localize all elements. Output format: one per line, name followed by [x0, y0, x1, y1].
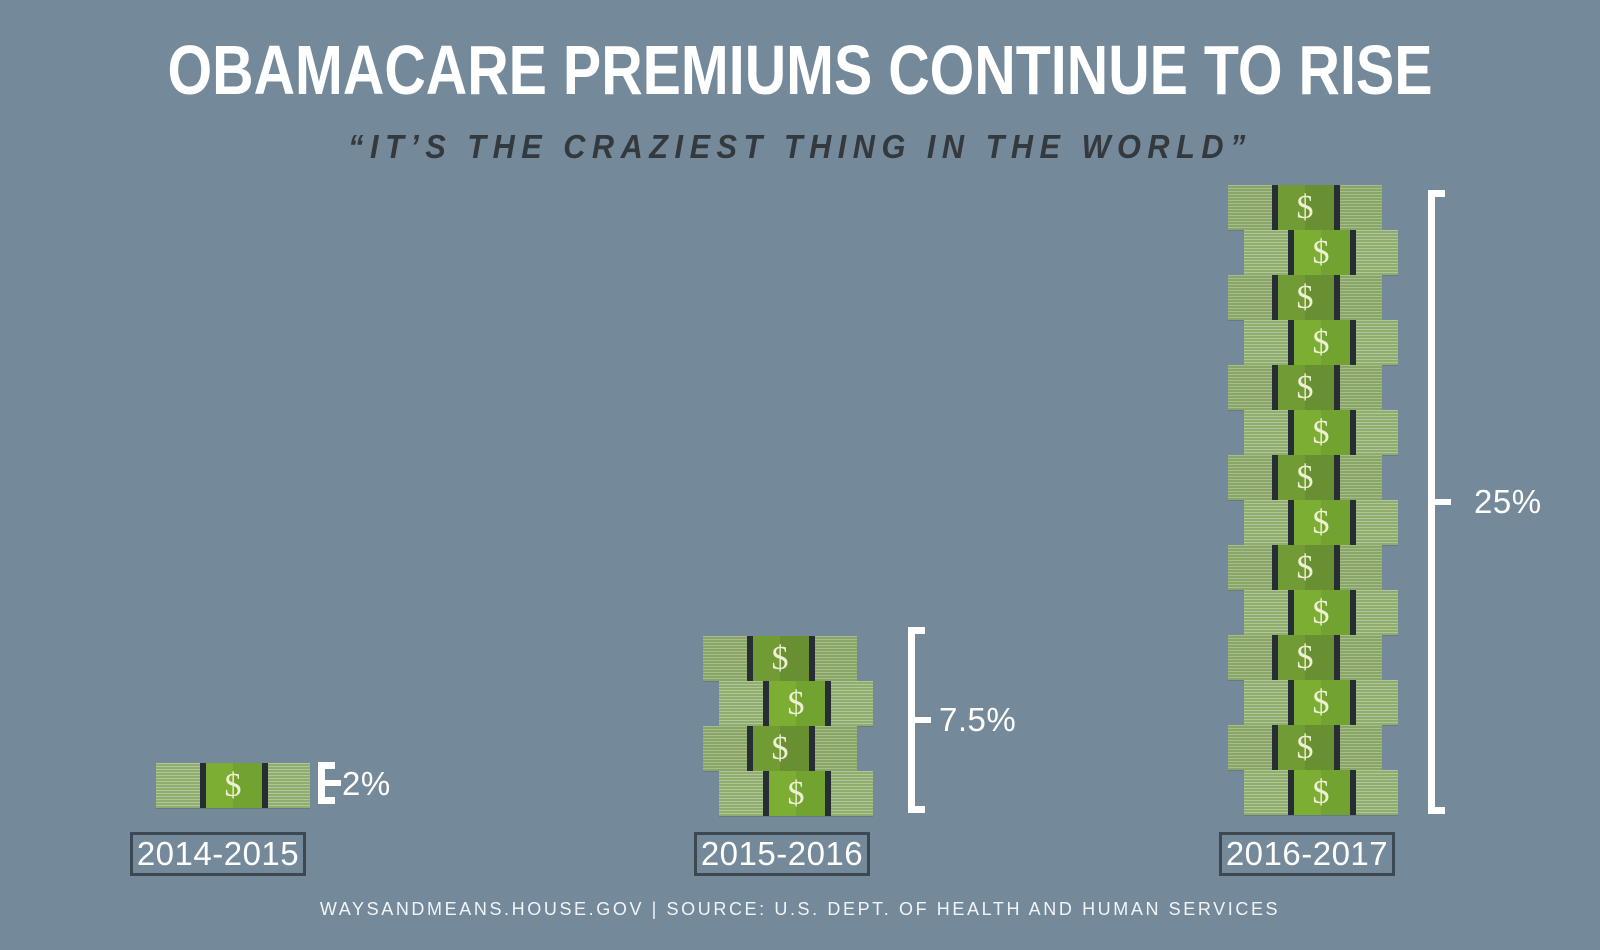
money-bill: $: [1244, 230, 1398, 275]
bill-end-left: [1228, 725, 1274, 770]
bill-end-right: [827, 681, 873, 726]
money-bill: $: [703, 636, 857, 681]
bracket-cap-top: [1428, 190, 1445, 197]
year-label-2014-2015: 2014-2015: [130, 832, 306, 876]
money-bill: $: [1228, 635, 1382, 680]
dollar-sign-icon: $: [1290, 320, 1352, 365]
bill-end-left: [719, 771, 765, 816]
dollar-sign-icon: $: [1274, 635, 1336, 680]
percent-label-2016-2017: 25%: [1474, 485, 1542, 519]
dollar-sign-icon: $: [1290, 230, 1352, 275]
dollar-sign-icon: $: [765, 681, 827, 726]
money-bill: $: [1244, 500, 1398, 545]
bill-end-right: [811, 636, 857, 681]
bill-end-right: [1352, 680, 1398, 725]
bill-end-left: [156, 763, 202, 808]
page-title: OBAMACARE PREMIUMS CONTINUE TO RISE: [144, 34, 1456, 106]
dollar-sign-icon: $: [1290, 590, 1352, 635]
bill-end-right: [1352, 590, 1398, 635]
bill-end-right: [1352, 410, 1398, 455]
money-stack-2014-2015: $: [140, 760, 310, 808]
bracket-spine: [1428, 190, 1435, 814]
bill-end-left: [1228, 185, 1274, 230]
bill-end-right: [1352, 770, 1398, 815]
money-stack-2016-2017: $$$$$$$$$$$$$$: [1228, 187, 1398, 815]
bracket-spine: [908, 627, 915, 813]
bracket-tick: [325, 780, 341, 786]
bill-end-left: [719, 681, 765, 726]
dollar-sign-icon: $: [1290, 680, 1352, 725]
bill-end-right: [1336, 545, 1382, 590]
bill-end-left: [1244, 590, 1290, 635]
bill-end-left: [1228, 365, 1274, 410]
bill-end-right: [1352, 230, 1398, 275]
bill-end-left: [1228, 275, 1274, 320]
money-bill: $: [719, 681, 873, 726]
bill-end-right: [1352, 320, 1398, 365]
year-label-2015-2016: 2015-2016: [694, 832, 870, 876]
bracket-tick: [1435, 499, 1451, 505]
bill-end-right: [1336, 455, 1382, 500]
dollar-sign-icon: $: [1274, 725, 1336, 770]
dollar-sign-icon: $: [749, 726, 811, 771]
dollar-sign-icon: $: [1274, 365, 1336, 410]
bracket-cap-bottom: [1428, 807, 1445, 814]
money-bill: $: [156, 763, 310, 808]
dollar-sign-icon: $: [1274, 545, 1336, 590]
money-bill: $: [1244, 320, 1398, 365]
money-bill: $: [1228, 725, 1382, 770]
percent-label-2014-2015: 2%: [342, 767, 391, 801]
infographic-canvas: OBAMACARE PREMIUMS CONTINUE TO RISE “IT’…: [0, 0, 1600, 950]
money-bill: $: [1228, 365, 1382, 410]
bill-end-right: [827, 771, 873, 816]
money-bill: $: [1228, 545, 1382, 590]
bill-end-right: [264, 763, 310, 808]
money-bill: $: [1244, 410, 1398, 455]
bill-end-right: [1352, 500, 1398, 545]
bracket-cap-bottom: [318, 797, 335, 804]
bill-end-right: [1336, 185, 1382, 230]
bill-end-left: [1244, 680, 1290, 725]
bracket-cap-bottom: [908, 806, 925, 813]
bill-end-left: [703, 636, 749, 681]
money-bill: $: [1244, 590, 1398, 635]
bracket-tick: [915, 717, 931, 723]
money-bill: $: [1244, 680, 1398, 725]
bracket-cap-top: [318, 762, 335, 769]
page-subtitle: “IT’S THE CRAZIEST THING IN THE WORLD”: [56, 129, 1544, 165]
dollar-sign-icon: $: [1290, 770, 1352, 815]
money-bill: $: [719, 771, 873, 816]
bill-end-left: [1228, 545, 1274, 590]
dollar-sign-icon: $: [765, 771, 827, 816]
money-bill: $: [703, 726, 857, 771]
money-bill: $: [1244, 770, 1398, 815]
dollar-sign-icon: $: [1274, 455, 1336, 500]
bill-end-left: [1244, 770, 1290, 815]
bill-end-left: [1244, 230, 1290, 275]
bill-end-left: [703, 726, 749, 771]
bill-end-left: [1244, 320, 1290, 365]
dollar-sign-icon: $: [202, 763, 264, 808]
bill-end-left: [1228, 635, 1274, 680]
bill-end-right: [1336, 275, 1382, 320]
dollar-sign-icon: $: [1274, 185, 1336, 230]
bracket-cap-top: [908, 627, 925, 634]
year-label-2016-2017: 2016-2017: [1219, 832, 1395, 876]
bill-end-left: [1228, 455, 1274, 500]
percent-label-2015-2016: 7.5%: [939, 703, 1016, 737]
dollar-sign-icon: $: [1290, 410, 1352, 455]
dollar-sign-icon: $: [749, 636, 811, 681]
money-bill: $: [1228, 455, 1382, 500]
bill-end-right: [811, 726, 857, 771]
bill-end-right: [1336, 635, 1382, 680]
bill-end-left: [1244, 500, 1290, 545]
bill-end-left: [1244, 410, 1290, 455]
dollar-sign-icon: $: [1290, 500, 1352, 545]
money-stack-2015-2016: $$$$: [703, 626, 873, 816]
money-bill: $: [1228, 185, 1382, 230]
bill-end-right: [1336, 725, 1382, 770]
footer-source: WAYSANDMEANS.HOUSE.GOV | SOURCE: U.S. DE…: [0, 898, 1600, 920]
money-bill: $: [1228, 275, 1382, 320]
dollar-sign-icon: $: [1274, 275, 1336, 320]
bill-end-right: [1336, 365, 1382, 410]
